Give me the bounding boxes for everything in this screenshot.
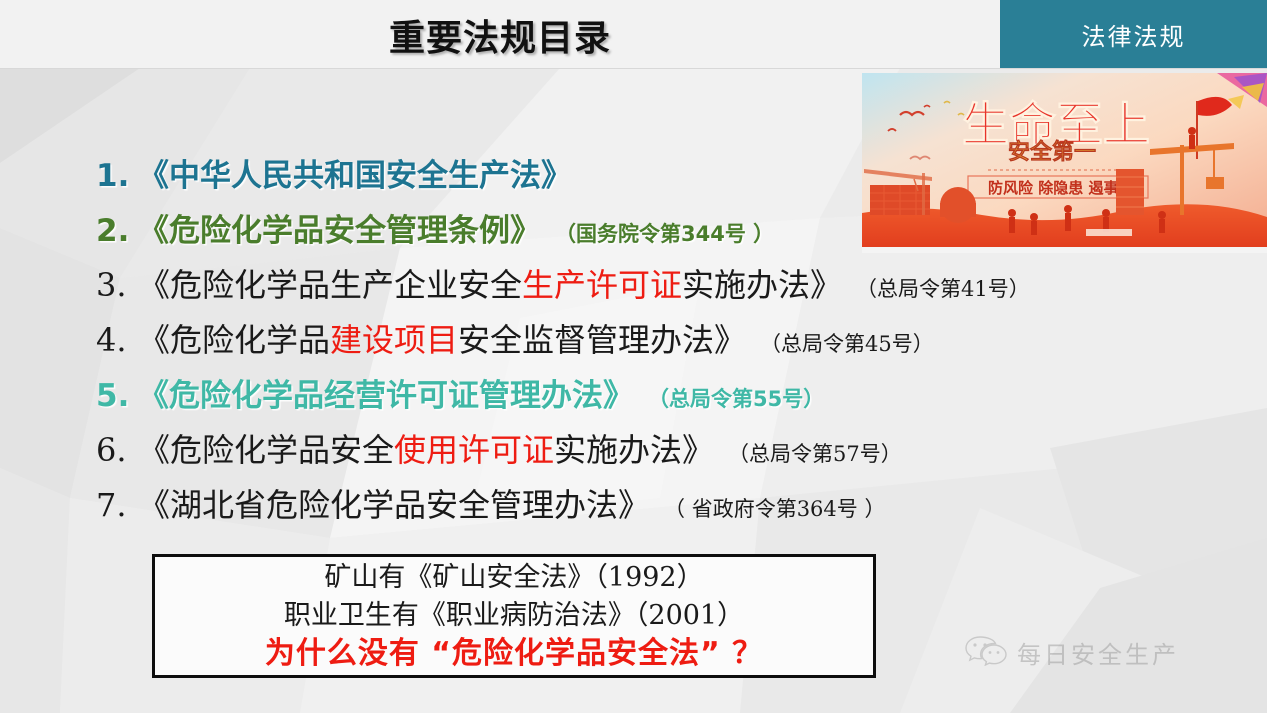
list-item-suffix: （总局令第57号） [728, 438, 902, 468]
section-tag-label: 法律法规 [1000, 0, 1267, 68]
list-item[interactable]: 3. 《危险化学品生产企业安全 生产许可证 实施办法》 （总局令第41号） [96, 260, 1156, 315]
safety-poster-banner: 生命至上 安全第一 防风险 除隐患 遏事故 [862, 73, 1267, 253]
list-item-title: 《中华人民共和国安全生产法》 [138, 150, 572, 195]
list-item-suffix: （国务院令第344号 ） [555, 218, 774, 248]
list-item-number: 3. [96, 266, 138, 304]
list-item[interactable]: 5. 《危险化学品经营许可证管理办法》 （总局令第55号） [96, 370, 1156, 425]
svg-text:防风险 除隐患 遏事故: 防风险 除隐患 遏事故 [988, 179, 1134, 197]
list-item-suffix: （ 省政府令第364号 ） [664, 493, 885, 523]
list-item-highlight: 生产许可证 [522, 260, 682, 306]
wechat-icon [965, 634, 1007, 671]
list-item-number: 2. [96, 213, 138, 249]
list-item-highlight: 建设项目 [330, 315, 458, 361]
list-item[interactable]: 6. 《危险化学品安全 使用许可证 实施办法》 （总局令第57号） [96, 425, 1156, 480]
list-item-title-post: 实施办法》 [554, 425, 714, 471]
note-line-1: 矿山有《矿山安全法》（1992） [324, 559, 703, 596]
section-tag-badge: 法律法规 [1000, 0, 1267, 68]
svg-text:安全第一: 安全第一 [1008, 139, 1096, 165]
page-title: 重要法规目录 [0, 9, 1000, 61]
watermark: 每日安全生产 [965, 634, 1179, 671]
note-box: 矿山有《矿山安全法》（1992） 职业卫生有《职业病防治法》（2001） 为什么… [152, 554, 876, 678]
list-item-title: 《危险化学品安全管理条例》 [138, 205, 541, 250]
list-item-title-post: 实施办法》 [682, 260, 842, 306]
slide-canvas: 重要法规目录 法律法规 [0, 0, 1267, 713]
list-item-number: 7. [96, 486, 138, 524]
list-item-suffix: （总局令第41号） [856, 273, 1030, 303]
list-item-highlight: 使用许可证 [394, 425, 554, 471]
list-item-suffix: （总局令第55号） [648, 383, 824, 413]
list-item[interactable]: 7. 《湖北省危险化学品安全管理办法》 （ 省政府令第364号 ） [96, 480, 1156, 535]
watermark-label: 每日安全生产 [1017, 635, 1179, 670]
list-item-title: 《危险化学品经营许可证管理办法》 [138, 370, 634, 415]
list-item-number: 5. [96, 378, 138, 414]
list-item-title: 《湖北省危险化学品安全管理办法》 [138, 480, 650, 526]
note-line-question: 为什么没有 “危险化学品安全法” ？ [265, 634, 763, 673]
list-item[interactable]: 4. 《危险化学品 建设项目 安全监督管理办法》 （总局令第45号） [96, 315, 1156, 370]
list-item-suffix: （总局令第45号） [760, 328, 934, 358]
list-item-title-post: 安全监督管理办法》 [458, 315, 746, 361]
list-item-title-pre: 《危险化学品 [138, 315, 330, 361]
list-item-title-pre: 《危险化学品生产企业安全 [138, 260, 522, 306]
list-item-title-pre: 《危险化学品安全 [138, 425, 394, 471]
list-item-number: 1. [96, 158, 138, 194]
note-line-2: 职业卫生有《职业病防治法》（2001） [284, 597, 744, 634]
list-item-number: 4. [96, 321, 138, 359]
list-item-number: 6. [96, 431, 138, 469]
